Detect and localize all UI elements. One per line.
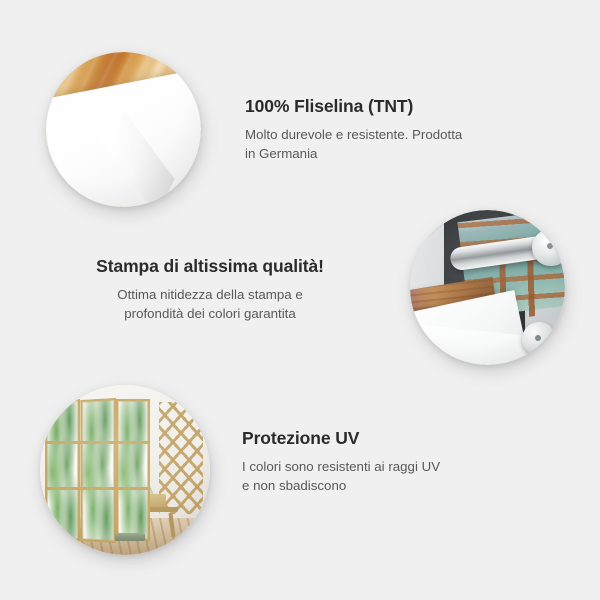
circle-vignette — [410, 210, 565, 365]
circle-vignette — [46, 52, 201, 207]
circle-clip — [46, 52, 201, 207]
circle-clip — [410, 210, 565, 365]
feature-fliselina-text: 100% Fliselina (TNT) Molto durevole e re… — [245, 96, 505, 164]
feature-fliselina-title: 100% Fliselina (TNT) — [245, 96, 505, 117]
feature-protezione-uv-title: Protezione UV — [242, 428, 512, 449]
feature-stampa-qualita-title: Stampa di altissima qualità! — [60, 256, 360, 277]
feature-protezione-uv-text: Protezione UV I colori sono resistenti a… — [242, 428, 512, 496]
feature-stampa-qualita-description: Ottima nitidezza della stampa e profondi… — [60, 286, 360, 324]
feature-protezione-uv-description: I colori sono resistenti ai raggi UV e n… — [242, 458, 512, 496]
large-format-printing-press-image — [410, 210, 565, 365]
tropical-folding-screen-interior-image — [40, 385, 210, 555]
circle-clip — [40, 385, 210, 555]
peeling-nonwoven-wallpaper-corner-image — [46, 52, 201, 207]
feature-fliselina-description: Molto durevole e resistente. Prodotta in… — [245, 126, 505, 164]
infographic-canvas: 100% Fliselina (TNT) Molto durevole e re… — [0, 0, 600, 600]
circle-vignette — [40, 385, 210, 555]
feature-stampa-qualita-text: Stampa di altissima qualità! Ottima niti… — [60, 256, 360, 324]
